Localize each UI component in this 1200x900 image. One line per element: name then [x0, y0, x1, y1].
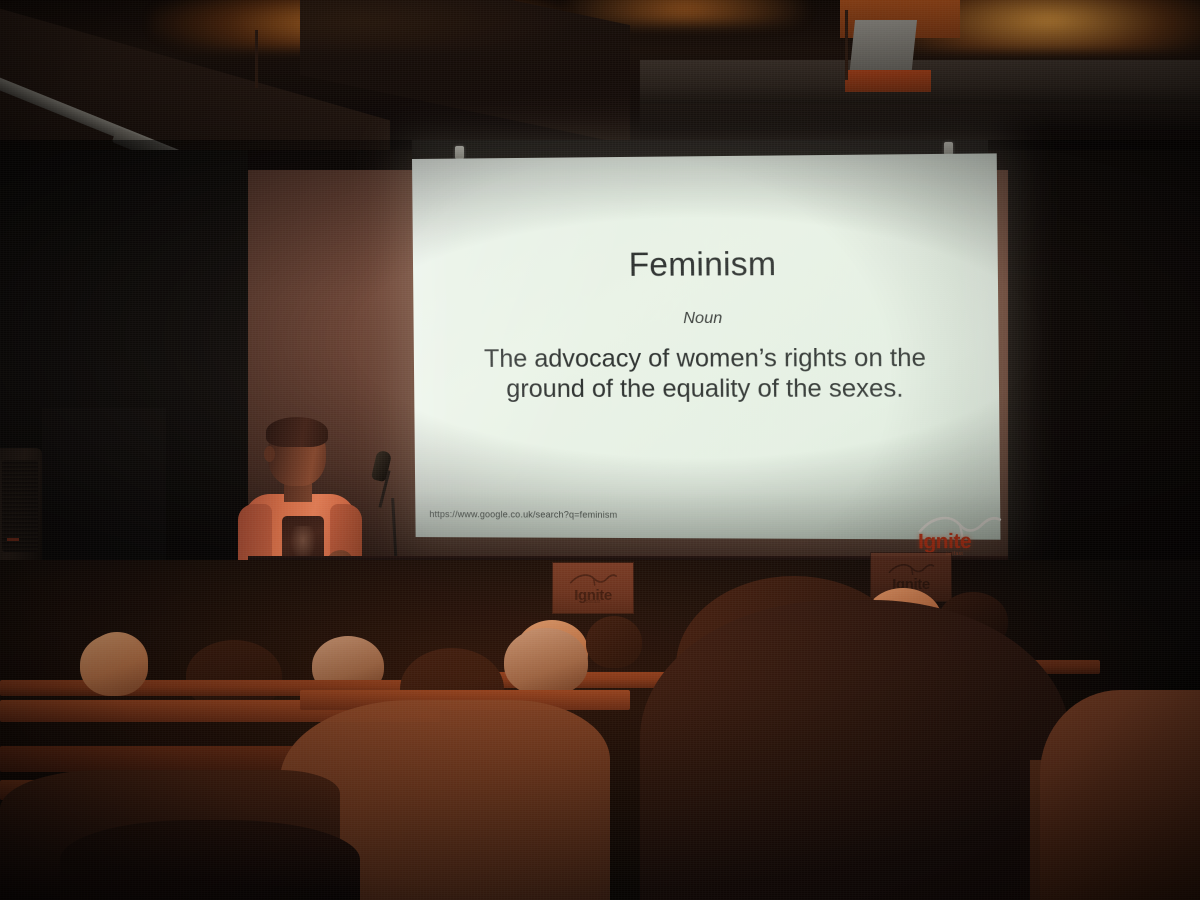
ignite-banner: Ignite belfast	[552, 562, 634, 614]
projection-screen: Feminism Noun The advocacy of women’s ri…	[412, 153, 1000, 539]
speaker-ear	[264, 446, 275, 462]
ceiling-hanger-rod	[845, 10, 848, 80]
audience-head	[504, 628, 588, 696]
ignite-swoosh-icon	[886, 561, 936, 575]
foreground-audience-right	[1040, 690, 1200, 900]
slide-title: Feminism	[413, 243, 998, 285]
ceiling-beam-shadow	[640, 104, 1200, 130]
audience-head	[80, 634, 148, 696]
ignite-wordmark: Ignite	[918, 531, 971, 553]
foreground-audience-body	[640, 600, 1070, 900]
slide-source-url: https://www.google.co.uk/search?q=femini…	[429, 509, 617, 520]
foreground-shoulder	[60, 820, 360, 900]
ceiling-hanger-rod	[255, 30, 258, 88]
audience-head	[586, 616, 642, 668]
pew-row	[0, 746, 300, 772]
back-wall-right	[1008, 150, 1200, 570]
photo-scene: Feminism Noun The advocacy of women’s ri…	[0, 0, 1200, 900]
slide-surface: Feminism Noun The advocacy of women’s ri…	[412, 153, 1000, 539]
screen-clip-icon	[455, 146, 464, 159]
slide-definition-text: The advocacy of women’s rights on the gr…	[466, 343, 945, 404]
pa-loudspeaker-led	[7, 538, 19, 541]
ignite-banner-tagline: belfast	[553, 599, 633, 605]
ignite-swoosh-icon	[568, 571, 618, 586]
ceiling-fixture-bracket	[845, 70, 931, 92]
slide-part-of-speech: Noun	[413, 309, 998, 329]
speaker-hair	[266, 417, 328, 447]
